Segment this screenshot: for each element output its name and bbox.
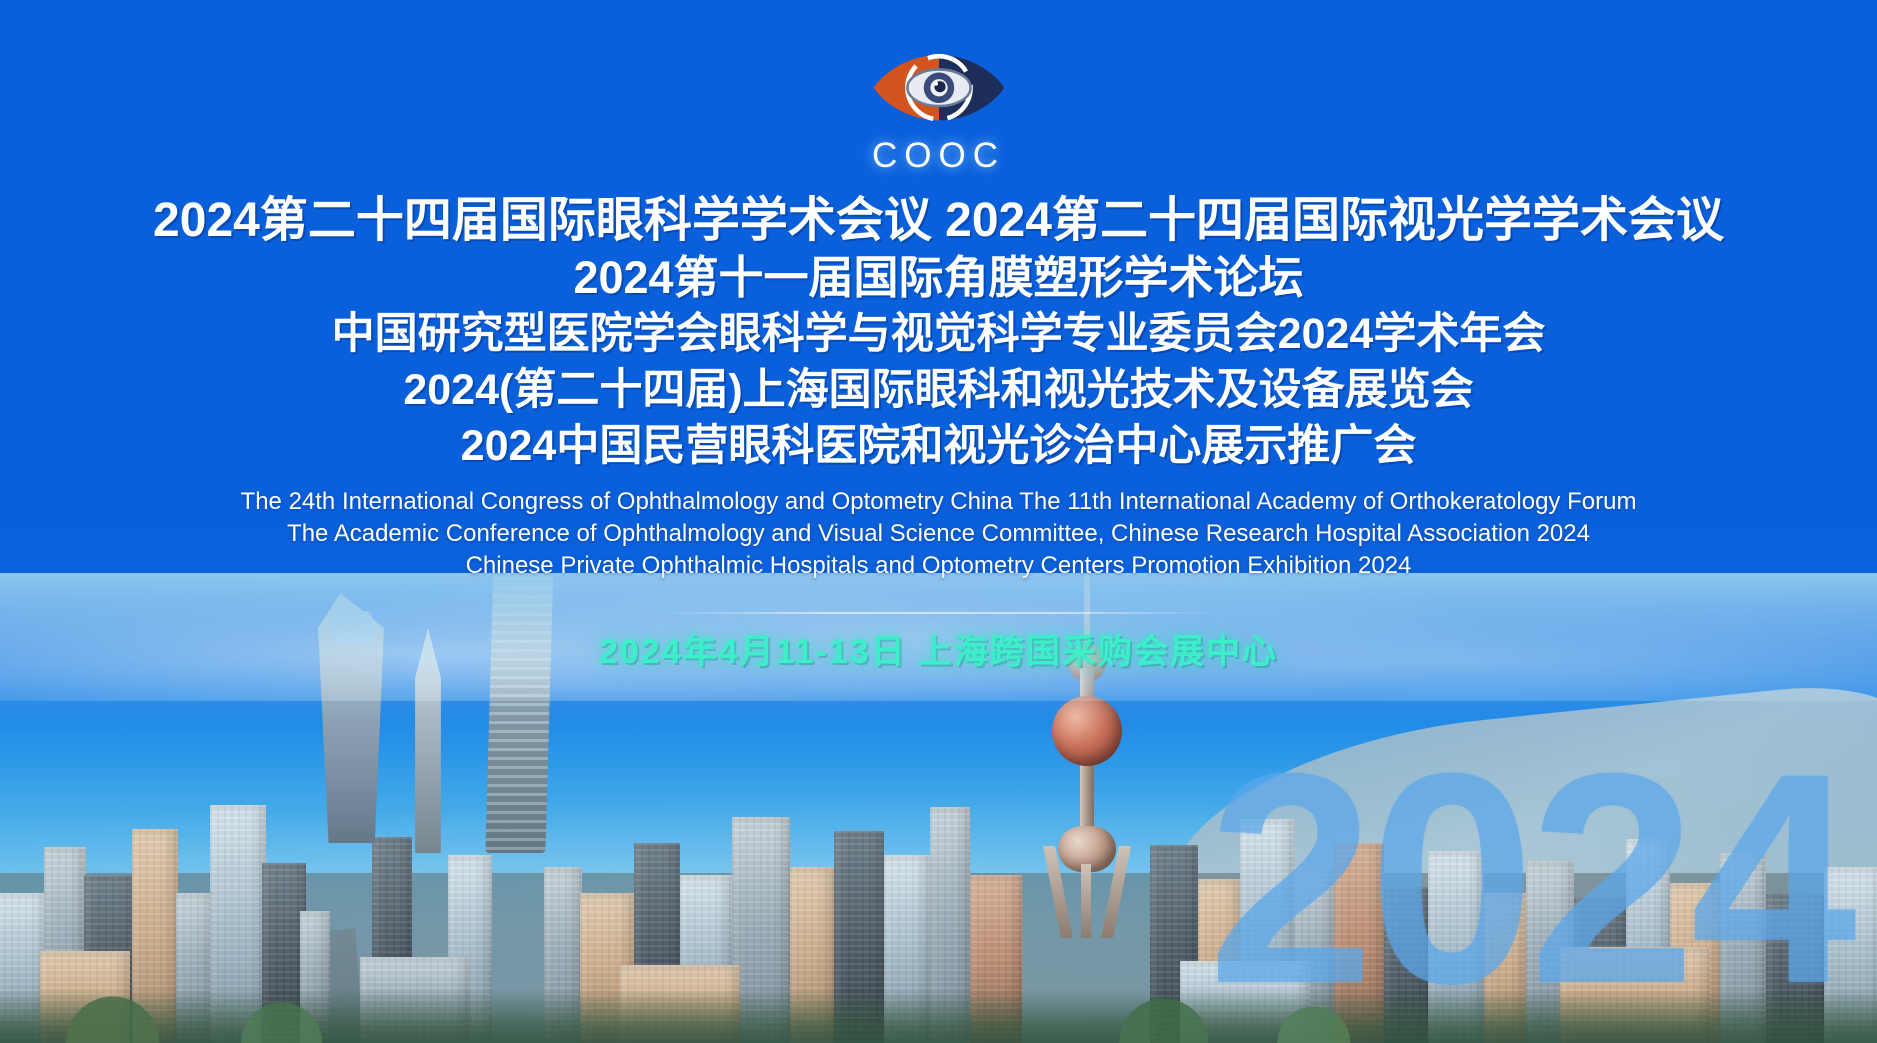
logo-block: COOC	[0, 0, 1877, 176]
title-line-5: 2024中国民营眼科医院和视光诊治中心展示推广会	[0, 418, 1877, 474]
english-line-1: The 24th International Congress of Ophth…	[0, 486, 1877, 518]
english-subtitle-block: The 24th International Congress of Ophth…	[0, 486, 1877, 582]
cooc-eye-logo-icon	[862, 46, 1016, 130]
title-line-4: 2024(第二十四届)上海国际眼科和视光技术及设备展览会	[0, 362, 1877, 418]
banner-content: COOC 2024第二十四届国际眼科学学术会议 2024第二十四届国际视光学学术…	[0, 0, 1877, 1043]
conference-banner: 2024 COOC 2024第二十四届国际眼科学学术会议 2024第二十四届国际…	[0, 0, 1877, 1043]
title-line-2: 2024第十一届国际角膜塑形学术论坛	[0, 250, 1877, 306]
date-venue-text: 2024年4月11-13日 上海跨国采购会展中心	[599, 624, 1278, 673]
english-line-3: Chinese Private Ophthalmic Hospitals and…	[0, 550, 1877, 582]
cooc-wordmark: COOC	[872, 136, 1005, 176]
title-line-3: 中国研究型医院学会眼科学与视觉科学专业委员会2024学术年会	[0, 306, 1877, 362]
english-line-2: The Academic Conference of Ophthalmology…	[0, 518, 1877, 550]
title-line-1: 2024第二十四届国际眼科学学术会议 2024第二十四届国际视光学学术会议	[0, 192, 1877, 250]
date-divider-rule	[659, 612, 1219, 614]
chinese-title-block: 2024第二十四届国际眼科学学术会议 2024第二十四届国际视光学学术会议 20…	[0, 192, 1877, 474]
date-venue-block: 2024年4月11-13日 上海跨国采购会展中心	[0, 612, 1877, 673]
